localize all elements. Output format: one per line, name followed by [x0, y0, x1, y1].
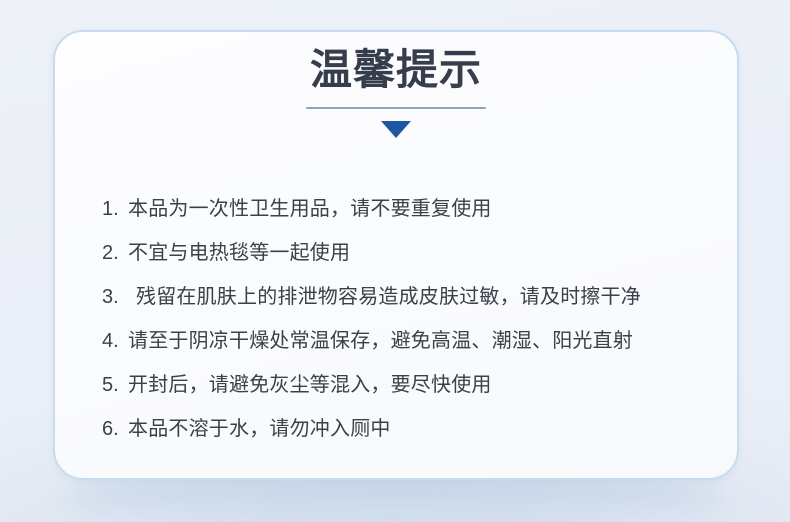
list-item-text: 开封后，请避免灰尘等混入，要尽快使用: [128, 363, 492, 407]
page-title: 温馨提示: [55, 32, 737, 91]
list-item-index: 2.: [102, 231, 128, 275]
list-item: 2. 不宜与电热毯等一起使用: [102, 231, 717, 275]
list-item-index: 5.: [102, 363, 128, 407]
page-background: 温馨提示 1. 本品为一次性卫生用品，请不要重复使用 2. 不宜与电热毯等一起使…: [0, 0, 790, 522]
list-item-text: 残留在肌肤上的排泄物容易造成皮肤过敏，请及时擦干净: [128, 275, 641, 319]
card-header: 温馨提示: [55, 32, 737, 141]
list-item-index: 3.: [102, 275, 128, 319]
notice-card: 温馨提示 1. 本品为一次性卫生用品，请不要重复使用 2. 不宜与电热毯等一起使…: [53, 30, 739, 480]
list-item: 3. 残留在肌肤上的排泄物容易造成皮肤过敏，请及时擦干净: [102, 275, 717, 319]
notice-list: 1. 本品为一次性卫生用品，请不要重复使用 2. 不宜与电热毯等一起使用 3. …: [102, 187, 717, 451]
title-divider: [306, 107, 486, 109]
arrow-down-icon: [381, 121, 411, 138]
list-item-index: 1.: [102, 187, 128, 231]
list-item: 6. 本品不溶于水，请勿冲入厕中: [102, 407, 717, 451]
list-item-text: 本品不溶于水，请勿冲入厕中: [128, 407, 391, 451]
list-item-text: 请至于阴凉干燥处常温保存，避免高温、潮湿、阳光直射: [128, 319, 633, 363]
list-item: 5. 开封后，请避免灰尘等混入，要尽快使用: [102, 363, 717, 407]
list-item: 1. 本品为一次性卫生用品，请不要重复使用: [102, 187, 717, 231]
list-item-text: 不宜与电热毯等一起使用: [128, 231, 350, 275]
list-item: 4. 请至于阴凉干燥处常温保存，避免高温、潮湿、阳光直射: [102, 319, 717, 363]
arrow-down-icon-wrapper: [55, 121, 737, 141]
list-item-text: 本品为一次性卫生用品，请不要重复使用: [128, 187, 492, 231]
list-item-index: 6.: [102, 407, 128, 451]
list-item-index: 4.: [102, 319, 128, 363]
